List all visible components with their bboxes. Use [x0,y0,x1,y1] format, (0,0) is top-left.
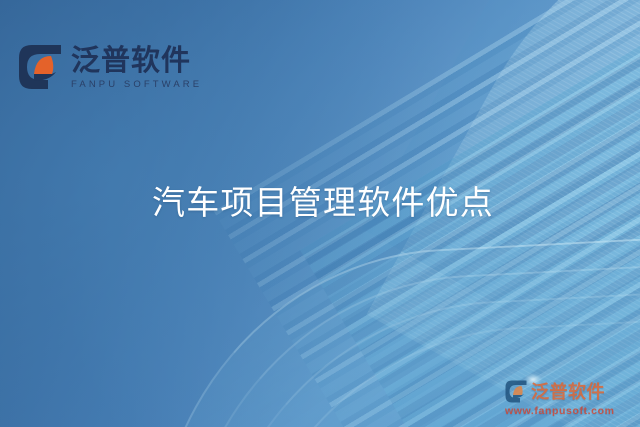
brand-name-cn: 泛普软件 [71,46,202,76]
lens-flare-highlight [525,374,541,385]
banner-title: 汽车项目管理软件优点 [152,183,494,223]
banner-image: 泛普软件 FANPU SOFTWARE 汽车项目管理软件优点 泛普软件 www.… [0,0,640,427]
brand-name-en: FANPU SOFTWARE [71,79,202,90]
brand-text: 泛普软件 FANPU SOFTWARE [71,44,202,90]
brand-logo: 泛普软件 FANPU SOFTWARE [18,44,202,90]
fanpu-shield-icon [18,44,62,90]
